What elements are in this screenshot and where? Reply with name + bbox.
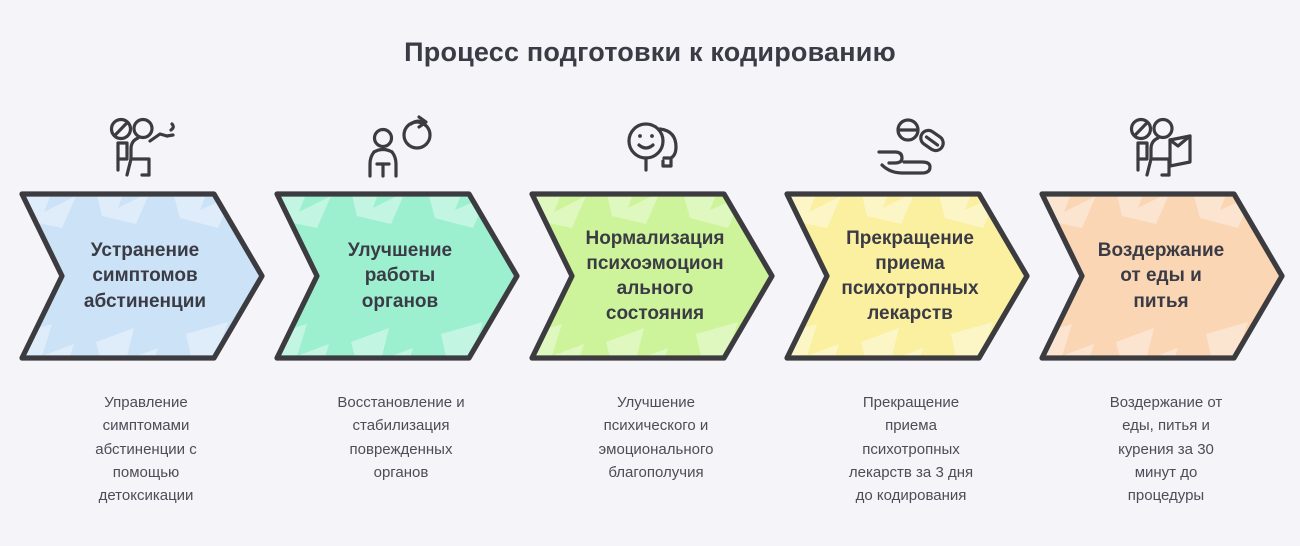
step-banner-5[interactable]: Воздержание от еды и питья [1038,186,1294,366]
process-step-5[interactable]: Воздержание от еды и питья Воздержание о… [1038,108,1294,528]
step-caption-4: Прекращение приема психотропных лекарств… [783,391,1039,507]
head-smiley-mind-icon [528,108,784,188]
step-label-2: Улучшение работы органов [273,186,529,366]
step-label-5: Воздержание от еды и питья [1038,186,1294,366]
process-step-1[interactable]: Устранение симптомов абстиненции Управле… [18,108,274,528]
no-smoking-person-sitting-icon [18,108,274,188]
step-banner-4[interactable]: Прекращение приема психотропных лекарств [783,186,1039,366]
step-banner-1[interactable]: Устранение симптомов абстиненции [18,186,274,366]
process-step-2[interactable]: Улучшение работы органов Восстановление … [273,108,529,528]
no-eating-person-at-table-icon [1038,108,1294,188]
process-step-4[interactable]: Прекращение приема психотропных лекарств… [783,108,1039,528]
step-caption-5: Воздержание от еды, питья и курения за 3… [1038,391,1294,507]
process-flow-diagram: Устранение симптомов абстиненции Управле… [0,108,1300,528]
step-banner-3[interactable]: Нормализация психоэмоцион ального состоя… [528,186,784,366]
page-title: Процесс подготовки к кодированию [0,36,1300,68]
step-label-1: Устранение симптомов абстиненции [18,186,274,366]
person-recovery-refresh-icon [273,108,529,188]
hand-holding-pills-icon [783,108,1039,188]
process-step-3[interactable]: Нормализация психоэмоцион ального состоя… [528,108,784,528]
step-label-4: Прекращение приема психотропных лекарств [783,186,1039,366]
step-caption-3: Улучшение психического и эмоционального … [528,391,784,484]
step-banner-2[interactable]: Улучшение работы органов [273,186,529,366]
step-label-3: Нормализация психоэмоцион ального состоя… [528,186,784,366]
step-caption-1: Управление симптомами абстиненции с помо… [18,391,274,507]
step-caption-2: Восстановление и стабилизация поврежденн… [273,391,529,484]
